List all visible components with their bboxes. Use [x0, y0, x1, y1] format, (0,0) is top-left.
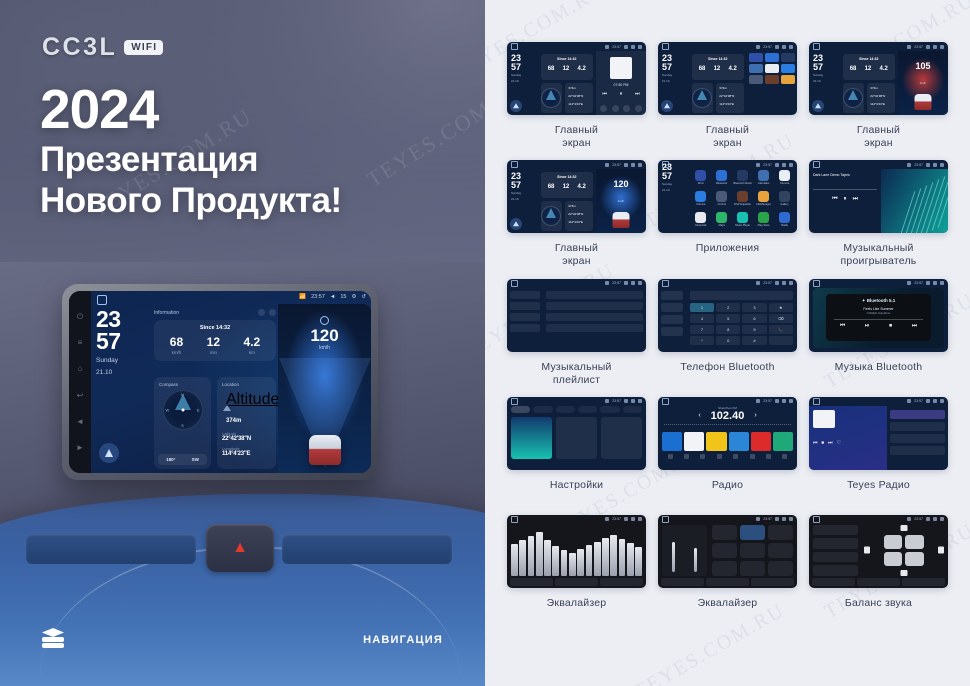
next-icon[interactable]: › — [754, 412, 756, 419]
stat-value: 12 — [207, 336, 220, 348]
preset-tile[interactable] — [768, 561, 793, 576]
location-widget: 374m22°42'38"N114°4'23"E — [716, 83, 744, 113]
preset-button[interactable] — [751, 578, 794, 586]
clock-minutes: 57 — [511, 181, 538, 190]
balance-footer[interactable] — [812, 578, 945, 586]
thumb-status-bar: 23:57 — [658, 515, 797, 524]
thumb-status-bar: 23:57 — [809, 397, 948, 406]
back-icon[interactable] — [638, 517, 642, 521]
home-icon[interactable] — [511, 398, 518, 405]
bt-controls[interactable]: ⏮⏯⏹⏭ — [830, 323, 927, 330]
stat-unit: km — [244, 350, 261, 355]
back-icon[interactable] — [789, 163, 793, 167]
information-actions[interactable] — [258, 309, 276, 316]
preset-tile[interactable] — [712, 543, 737, 558]
wifi-icon — [605, 163, 609, 167]
thumbnail-cell[interactable]: 23:57Эквалайзер — [658, 515, 797, 623]
back-icon[interactable] — [638, 45, 642, 49]
app-icon — [758, 212, 769, 223]
dial-key[interactable]: * — [690, 336, 714, 345]
seat-icon[interactable] — [905, 552, 924, 566]
back-icon[interactable]: ↩ — [76, 391, 85, 400]
settings-cards[interactable] — [511, 417, 642, 459]
preset-button[interactable] — [857, 578, 900, 586]
radio-screen[interactable]: Shenzhen FM‹102.40› — [658, 406, 797, 470]
home-icon[interactable] — [813, 280, 820, 287]
clock-minutes: 57 — [813, 63, 840, 72]
station-tile[interactable] — [729, 432, 749, 451]
back-icon[interactable] — [638, 399, 642, 403]
volume-icon — [775, 281, 779, 285]
settings-icon[interactable] — [782, 45, 786, 49]
settings-icon[interactable] — [631, 163, 635, 167]
dial-key[interactable]: 5 — [716, 314, 740, 323]
app-item[interactable]: Play Store — [754, 212, 773, 230]
app-icon[interactable] — [765, 75, 779, 84]
app-label: Bluetooth Music — [733, 182, 751, 185]
right-arrow-icon[interactable] — [938, 547, 944, 554]
app-icon[interactable] — [765, 53, 779, 62]
eq-slider[interactable] — [552, 546, 559, 576]
dial-key[interactable]: 3 — [742, 303, 766, 312]
eq-slider[interactable] — [511, 544, 518, 576]
dial-key[interactable]: 📞 — [769, 325, 793, 334]
home-icon[interactable] — [511, 280, 518, 287]
screenshot-grid-panel: TEYES.COM.RU TEYES.COM.RU TEYES.COM.RU T… — [485, 0, 970, 686]
screen-thumbnail-radio[interactable]: 23:57Shenzhen FM‹102.40› — [658, 397, 797, 470]
app-icon — [695, 170, 706, 181]
station-tile[interactable] — [773, 432, 793, 451]
home-icon[interactable] — [813, 516, 820, 523]
thumbnail-cell[interactable]: 23:57Эквалайзер — [507, 515, 646, 623]
preset-row[interactable] — [813, 525, 858, 536]
app-item[interactable]: Radio — [775, 212, 794, 230]
seat-balance-pad[interactable] — [864, 525, 944, 576]
screen-thumbnail-dialpad[interactable]: 23:57123★456⌫789📞*0# — [658, 279, 797, 352]
settings-icon[interactable]: ⚙ — [351, 294, 356, 300]
back-icon[interactable] — [940, 399, 944, 403]
expand-icon[interactable] — [269, 309, 276, 316]
stat-item: 68 km/h — [170, 336, 183, 355]
eq-slider[interactable] — [561, 550, 568, 576]
teyes-radio-screen[interactable]: ⏮⏹⏭♡ — [809, 406, 948, 470]
eq-slider[interactable] — [594, 542, 601, 576]
eq-slider[interactable] — [528, 536, 535, 576]
thumbnail-cell[interactable]: 23:57123★456⌫789📞*0#Телефон Bluetooth — [658, 279, 797, 387]
rear-arrow-icon[interactable] — [900, 570, 907, 576]
location-widget: 374m22°42'38"N114°4'23"E — [565, 201, 593, 231]
thumb-status-bar: 23:57 — [658, 397, 797, 406]
settings-icon[interactable] — [782, 399, 786, 403]
wifi-icon — [605, 517, 609, 521]
settings-icon[interactable] — [933, 281, 937, 285]
dial-key[interactable]: ★ — [769, 303, 793, 312]
player-controls[interactable]: ⏮⏸⏭ — [813, 196, 877, 203]
app-icon[interactable] — [781, 53, 795, 62]
album-art — [813, 410, 835, 428]
playlist-rows[interactable] — [543, 288, 646, 352]
back-icon[interactable] — [940, 45, 944, 49]
latitude-row: Latitude 22°42'38"N — [217, 427, 276, 442]
track-info: Dark Lane Demo Tapes⏮⏸⏭ — [809, 169, 881, 233]
screen-thumbnail-apps[interactable]: 23:572357Sunday21.10Wi-FiBluetoothBlueto… — [658, 160, 797, 233]
equalizer-simple[interactable] — [662, 525, 793, 576]
equalizer-bands[interactable] — [511, 525, 642, 576]
mode-icon[interactable]: ≡ — [76, 338, 85, 347]
screen-thumbnail-eq-simple[interactable]: 23:57 — [658, 515, 797, 588]
station-tile[interactable] — [662, 432, 682, 451]
compass-direction: SW — [192, 457, 199, 462]
app-item[interactable]: Kinopoisk — [691, 212, 710, 230]
app-item[interactable]: Music Player — [733, 212, 752, 230]
settings-icon[interactable] — [782, 517, 786, 521]
app-icon[interactable] — [781, 75, 795, 84]
settings-icon[interactable] — [933, 517, 937, 521]
thumbnail-cell[interactable]: 23:57Dark Lane Demo Tapes⏮⏸⏭Музыкальный … — [809, 160, 948, 268]
front-arrow-icon[interactable] — [900, 525, 907, 531]
media-controls[interactable]: ⏮⏸⏭ — [596, 91, 646, 97]
player-controls[interactable]: ⏮⏹⏭♡ — [813, 440, 883, 446]
prev-icon: ⏮ — [832, 196, 837, 203]
thumbnail-cell[interactable]: 23:57Shenzhen FM‹102.40›Радио — [658, 397, 797, 505]
settings-screen[interactable] — [511, 406, 642, 466]
app-item[interactable]: Control — [712, 191, 731, 209]
app-label: Radio — [781, 224, 788, 227]
navigation-fab[interactable] — [812, 100, 824, 112]
clock-minutes: 57 — [511, 63, 538, 72]
equalizer-footer[interactable] — [510, 578, 643, 586]
eq-slider[interactable] — [635, 547, 642, 576]
app-icon[interactable] — [749, 53, 763, 62]
app-item[interactable]: Camera — [775, 170, 794, 188]
station-tile[interactable] — [751, 432, 771, 451]
preset-tile[interactable] — [768, 543, 793, 558]
refresh-icon[interactable] — [258, 309, 265, 316]
back-icon[interactable] — [638, 163, 642, 167]
home-icon[interactable] — [511, 43, 518, 50]
settings-icon[interactable] — [631, 281, 635, 285]
app-icon — [695, 191, 706, 202]
thumbnail-cell[interactable]: 23:57✦ Bluetooth 5.1Feels Like SummerChi… — [809, 279, 948, 387]
home-icon[interactable] — [662, 516, 669, 523]
hazard-button[interactable]: ▲ — [206, 524, 274, 572]
dialpad[interactable]: 123★456⌫789📞*0# — [686, 288, 797, 352]
app-shortcuts[interactable] — [747, 51, 797, 115]
dial-key[interactable] — [769, 336, 793, 345]
preset-tile[interactable] — [740, 543, 765, 558]
eq-slider[interactable] — [544, 540, 551, 576]
station-list[interactable] — [887, 406, 948, 470]
dial-key[interactable]: 2 — [716, 303, 740, 312]
power-icon[interactable]: ⏻ — [76, 312, 85, 321]
equalizer-footer[interactable] — [661, 578, 794, 586]
volume-down-icon[interactable]: ◄ — [76, 417, 85, 426]
hazard-triangle-icon: ▲ — [232, 540, 248, 556]
layers-icon — [42, 628, 64, 648]
dial-key[interactable]: 1 — [690, 303, 714, 312]
seat-icon[interactable] — [884, 535, 903, 549]
balance-presets[interactable] — [813, 525, 858, 576]
screen-thumbnail-home-road2[interactable]: 23:572357Sunday21.10Since 14:3268124.237… — [507, 160, 646, 233]
volume-up-icon[interactable]: ► — [76, 443, 85, 452]
status-icons: 23:57 — [756, 517, 793, 521]
compass-west: W — [166, 408, 170, 413]
preset-row[interactable] — [813, 538, 858, 549]
thumbnail-caption: Главный экран — [555, 124, 598, 150]
app-icon — [695, 212, 706, 223]
preset-tile[interactable] — [740, 561, 765, 576]
prev-icon: ⏮ — [813, 440, 818, 446]
air-vent-left — [26, 534, 196, 564]
back-icon[interactable] — [638, 281, 642, 285]
app-item[interactable]: Bluetooth — [712, 170, 731, 188]
wifi-icon — [756, 163, 760, 167]
station-tile[interactable] — [684, 432, 704, 451]
fader-pair — [662, 525, 707, 576]
radio-toolbar[interactable] — [658, 451, 797, 459]
dial-key[interactable]: 8 — [716, 325, 740, 334]
status-clock: 23:57 — [612, 399, 621, 403]
home-icon[interactable] — [813, 161, 820, 168]
screen-thumbnail-balance[interactable]: 23:57 — [809, 515, 948, 588]
home-icon[interactable] — [662, 280, 669, 287]
status-icons: 23:57 — [907, 281, 944, 285]
home-icon[interactable] — [511, 161, 518, 168]
app-item[interactable]: Wi-Fi — [691, 170, 710, 188]
dial-key[interactable]: 6 — [742, 314, 766, 323]
preset-button[interactable] — [661, 578, 704, 586]
wifi-icon — [756, 281, 760, 285]
thumbnail-caption: Музыкальный проигрыватель — [841, 242, 917, 268]
station-tile[interactable] — [706, 432, 726, 451]
preset-tile[interactable] — [712, 525, 737, 540]
preset-button[interactable] — [510, 578, 553, 586]
dial-key[interactable]: ⌫ — [769, 314, 793, 323]
thumb-status-bar: 23:57 — [507, 397, 646, 406]
lead-car-graphic — [612, 212, 629, 228]
app-icon — [716, 212, 727, 223]
screen-thumbnail-player[interactable]: 23:57Dark Lane Demo Tapes⏮⏸⏭ — [809, 160, 948, 233]
app-icon[interactable] — [781, 64, 795, 73]
eq-slider[interactable] — [519, 540, 526, 576]
thumbnail-cell[interactable]: 23:572357Sunday21.10Wi-FiBluetoothBlueto… — [658, 160, 797, 268]
screen-thumbnail-home-apps[interactable]: 23:572357Sunday21.10Since 14:3268124.237… — [658, 42, 797, 115]
status-icons: 23:57 — [605, 281, 642, 285]
navigation-fab[interactable] — [99, 443, 119, 463]
preset-row[interactable] — [813, 565, 858, 576]
preset-button[interactable] — [706, 578, 749, 586]
settings-icon[interactable] — [631, 517, 635, 521]
media-time: 07:50 PM — [596, 83, 646, 87]
logo-model-text: CC3L — [42, 33, 117, 62]
eq-slider[interactable] — [586, 545, 593, 576]
screen-thumbnail-home-road[interactable]: 23:572357Sunday21.10Since 14:3268124.237… — [809, 42, 948, 115]
eq-slider[interactable] — [602, 538, 609, 576]
station-presets[interactable] — [658, 432, 797, 451]
app-icon[interactable] — [749, 64, 763, 73]
compass-south: S — [181, 423, 184, 428]
app-icon[interactable] — [749, 75, 763, 84]
widget-row: 374m22°42'38"N114°4'23"E — [541, 201, 593, 231]
settings-tabs[interactable] — [511, 406, 642, 413]
status-clock: 23:57 — [914, 399, 923, 403]
compass-north: N — [181, 392, 184, 397]
home-icon[interactable] — [511, 516, 518, 523]
wifi-icon — [756, 45, 760, 49]
app-item[interactable]: Gallery — [775, 191, 794, 209]
longitude-value: 114°4'23"E — [870, 102, 892, 106]
information-body: Since 14:32 68 km/h 12 min — [154, 320, 276, 361]
thumb-widgets: Since 14:3268124.2374m22°42'38"N114°4'23… — [538, 51, 596, 115]
status-clock: 23:57 — [763, 45, 772, 49]
phone-sidebar[interactable] — [658, 288, 686, 352]
preset-button[interactable] — [600, 578, 643, 586]
media-sources[interactable] — [598, 105, 644, 112]
app-icon[interactable] — [765, 64, 779, 73]
thumbnail-cell[interactable]: 23:572357Sunday21.10Since 14:3268124.237… — [658, 42, 797, 150]
eq-slider[interactable] — [536, 532, 543, 576]
status-icons: 23:57 — [756, 281, 793, 285]
home-icon[interactable]: ⌂ — [76, 364, 85, 373]
widget-row: 374m22°42'38"N114°4'23"E — [843, 83, 895, 113]
home-icon[interactable] — [662, 161, 669, 168]
home-icon[interactable] — [662, 43, 669, 50]
eq-slider[interactable] — [577, 549, 584, 576]
preset-tile[interactable] — [712, 561, 737, 576]
fader[interactable] — [694, 548, 697, 572]
back-icon[interactable]: ↺ — [361, 294, 366, 300]
dial-key[interactable]: # — [742, 336, 766, 345]
wifi-icon: 📶 — [299, 294, 306, 300]
home-icon[interactable] — [813, 398, 820, 405]
eq-slider[interactable] — [610, 535, 617, 576]
thumbnail-cell[interactable]: 23:572357Sunday21.10Since 14:3268124.237… — [507, 160, 646, 268]
thumb-widgets: Since 14:3268124.2374m22°42'38"N114°4'23… — [689, 51, 747, 115]
fader[interactable] — [672, 542, 675, 572]
side-button-rail[interactable]: ⏻ ≡ ⌂ ↩ ◄ ► — [69, 291, 91, 473]
screen-thumbnail-eq-bands[interactable]: 23:57 — [507, 515, 646, 588]
status-clock: 23:57 — [612, 163, 621, 167]
preset-button[interactable] — [812, 578, 855, 586]
settings-icon[interactable] — [933, 163, 937, 167]
screen-thumbnail-bt-music[interactable]: 23:57✦ Bluetooth 5.1Feels Like SummerChi… — [809, 279, 948, 352]
settings-icon[interactable] — [631, 399, 635, 403]
home-indicator-icon[interactable] — [97, 295, 107, 305]
app-item[interactable]: Bluetooth Music — [733, 170, 752, 188]
app-drawer[interactable]: Wi-FiBluetoothBluetooth MusicCalculatorC… — [691, 170, 794, 230]
eq-slider[interactable] — [569, 553, 576, 575]
stat-item: 4.2 km — [244, 336, 261, 355]
left-arrow-icon[interactable] — [864, 547, 870, 554]
preset-button[interactable] — [555, 578, 598, 586]
thumbnail-cell[interactable]: 23:572357Sunday21.10Since 14:3268124.237… — [507, 42, 646, 150]
back-icon[interactable] — [940, 163, 944, 167]
seat-icon[interactable] — [905, 535, 924, 549]
back-icon[interactable] — [940, 281, 944, 285]
dial-key[interactable]: 7 — [690, 325, 714, 334]
app-item[interactable]: Maps — [712, 212, 731, 230]
clock-weekday: Sunday — [662, 73, 689, 77]
thumbnail-cell[interactable]: 23:57Баланс звука — [809, 515, 948, 623]
home-icon[interactable] — [813, 43, 820, 50]
preset-grid[interactable] — [712, 525, 793, 576]
thumbnail-cell[interactable]: 23:57⏮⏹⏭♡Teyes Радио — [809, 397, 948, 505]
clock-date: 21.10 — [96, 369, 152, 378]
thumbnail-cell[interactable]: 23:57Настройки — [507, 397, 646, 505]
thumb-status-bar: 23:57 — [507, 279, 646, 288]
stat-value: 4.2 — [244, 336, 261, 348]
information-widget: Since 14:3268124.2 — [541, 54, 593, 80]
back-icon[interactable] — [789, 45, 793, 49]
speed-unit: km/h — [278, 345, 371, 351]
navigation-fab[interactable] — [510, 100, 522, 112]
status-clock: 23:57 — [914, 45, 923, 49]
wifi-icon — [907, 163, 911, 167]
trip-stats: 68124.2 — [846, 66, 892, 72]
app-item[interactable]: FileManager — [754, 191, 773, 209]
clock-minutes: 57 — [96, 331, 152, 353]
dial-key[interactable]: 9 — [742, 325, 766, 334]
app-item[interactable]: Calculator — [754, 170, 773, 188]
dial-key[interactable]: 4 — [690, 314, 714, 323]
prev-icon[interactable]: ‹ — [698, 412, 700, 419]
app-label: Camera — [780, 182, 789, 185]
home-icon[interactable] — [662, 398, 669, 405]
settings-icon[interactable] — [782, 163, 786, 167]
settings-icon[interactable] — [933, 45, 937, 49]
navigation-fab[interactable] — [661, 100, 673, 112]
next-icon: ⏭ — [828, 440, 833, 446]
thumbnail-caption: Приложения — [696, 242, 759, 268]
screen-thumbnail-settings[interactable]: 23:57 — [507, 397, 646, 470]
play-icon: ⏸ — [620, 91, 623, 97]
since-label: Since 14:32 — [695, 57, 741, 61]
lead-car-graphic — [914, 94, 931, 110]
screen-thumbnail-home-media[interactable]: 23:572357Sunday21.10Since 14:3268124.237… — [507, 42, 646, 115]
eq-slider[interactable] — [627, 543, 634, 576]
head-unit-screen: 📶 23:57 ◄ 15 ⚙ ↺ 23 57 Sunday 21.10 — [91, 291, 371, 473]
dial-key[interactable]: 0 — [716, 336, 740, 345]
preset-button[interactable] — [902, 578, 945, 586]
app-item[interactable]: DSP Equalizer — [733, 191, 752, 209]
screen-thumbnail-teyes-radio[interactable]: 23:57⏮⏹⏭♡ — [809, 397, 948, 470]
thumbnail-cell[interactable]: 23:57Музыкальный плейлист — [507, 279, 646, 387]
thumb-status-bar: 23:57 — [658, 279, 797, 288]
preset-tile[interactable] — [740, 525, 765, 540]
back-icon[interactable] — [940, 517, 944, 521]
balance-screen[interactable] — [813, 525, 944, 576]
app-item[interactable]: Chrome — [691, 191, 710, 209]
clock-widget: 23 57 Sunday 21.10 — [96, 309, 152, 378]
settings-icon[interactable] — [631, 45, 635, 49]
preset-tile[interactable] — [768, 525, 793, 540]
preset-row[interactable] — [813, 552, 858, 563]
back-icon[interactable] — [789, 517, 793, 521]
speed-limit-icon — [320, 316, 329, 325]
screen-thumbnail-playlist[interactable]: 23:57 — [507, 279, 646, 352]
app-icon — [758, 191, 769, 202]
status-clock: 23:57 — [763, 281, 772, 285]
prev-icon: ⏮ — [602, 91, 607, 97]
eq-slider[interactable] — [619, 539, 626, 576]
settings-icon[interactable] — [933, 399, 937, 403]
back-icon[interactable] — [789, 281, 793, 285]
seat-icon[interactable] — [884, 552, 903, 566]
thumbnail-cell[interactable]: 23:572357Sunday21.10Since 14:3268124.237… — [809, 42, 948, 150]
back-icon[interactable] — [789, 399, 793, 403]
settings-icon[interactable] — [782, 281, 786, 285]
playlist-sidebar[interactable] — [507, 288, 543, 352]
